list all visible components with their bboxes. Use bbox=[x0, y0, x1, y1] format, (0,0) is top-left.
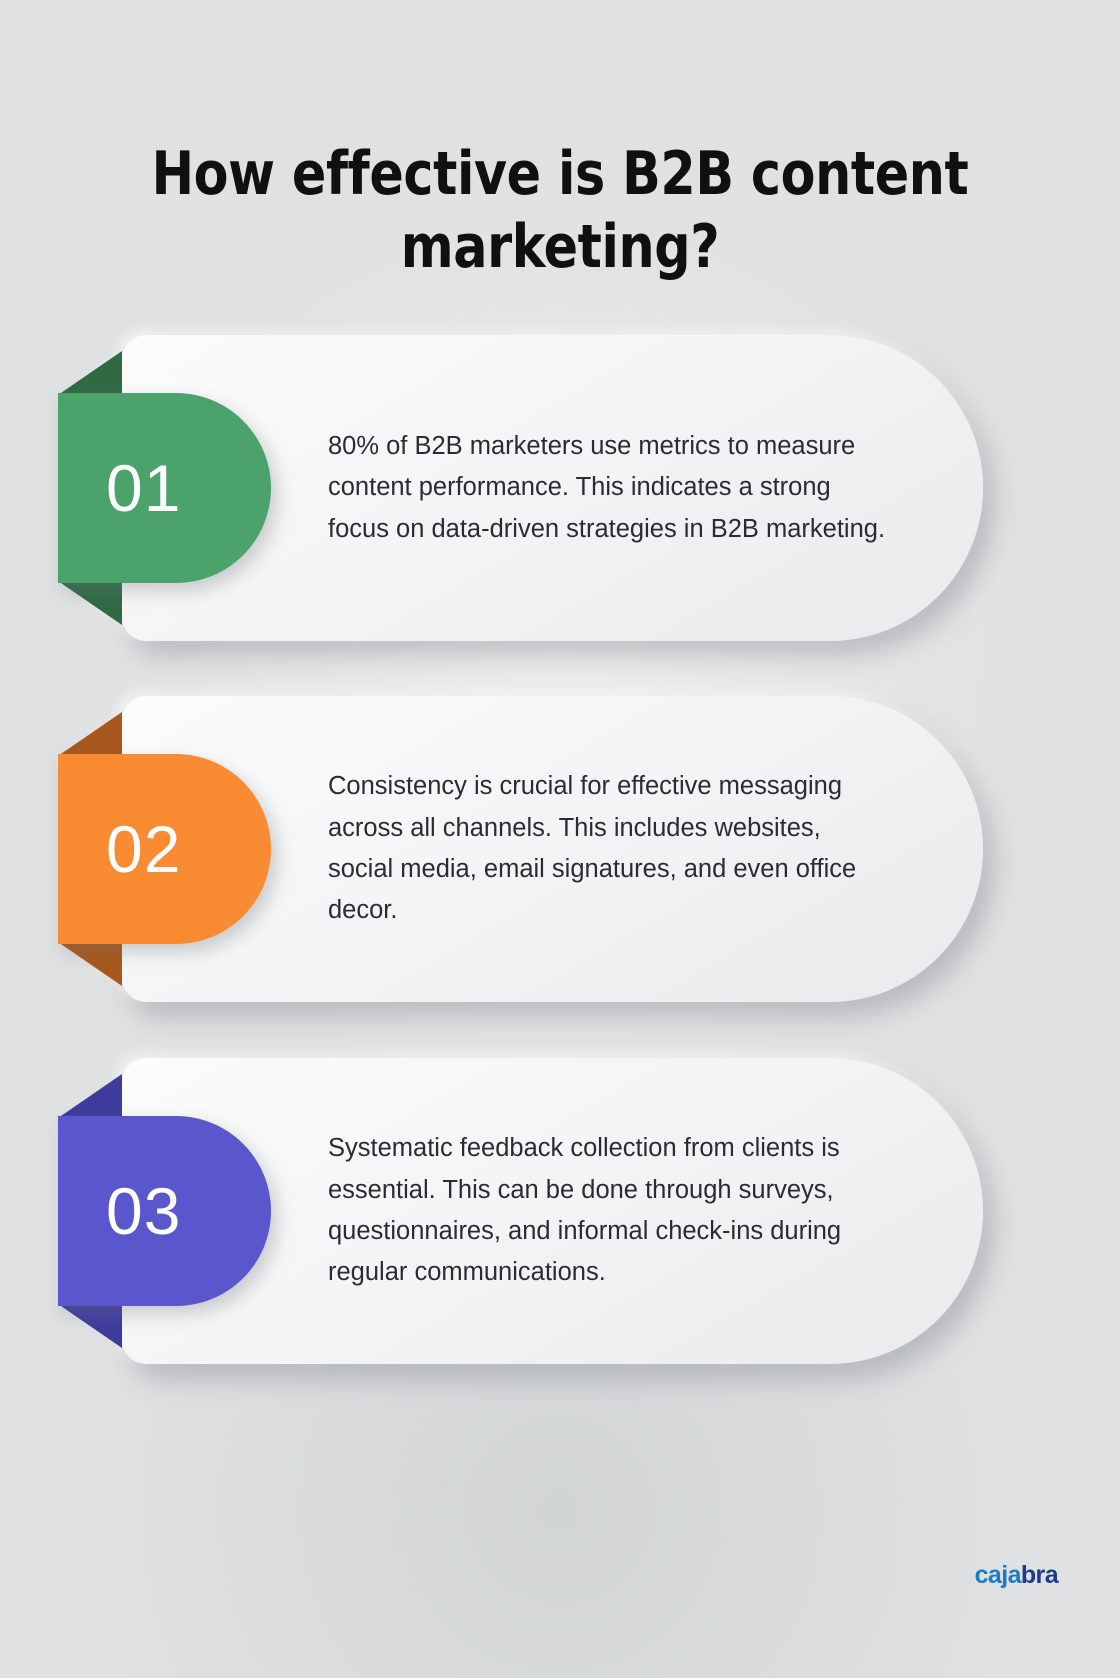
ribbon-fold-bottom-icon bbox=[58, 942, 122, 986]
fact-text-02: Consistency is crucial for effective mes… bbox=[328, 766, 888, 931]
ribbon-body-01: 01 bbox=[58, 393, 271, 583]
fact-text-wrap-03: Systematic feedback collection from clie… bbox=[328, 1058, 888, 1364]
brand-logo: cajabra bbox=[975, 1561, 1058, 1590]
ribbon-fold-top-icon bbox=[58, 1074, 122, 1118]
fact-row-03: 03 Systematic feedback collection from c… bbox=[0, 1058, 1120, 1404]
fact-text-01: 80% of B2B marketers use metrics to meas… bbox=[328, 426, 888, 550]
number-ribbon-02: 02 bbox=[58, 754, 271, 944]
ribbon-fold-top-icon bbox=[58, 351, 122, 395]
page-title: How effective is B2B content marketing? bbox=[123, 138, 997, 284]
fact-text-wrap-02: Consistency is crucial for effective mes… bbox=[328, 696, 888, 1002]
ribbon-fold-top-icon bbox=[58, 712, 122, 756]
fact-row-01: 01 80% of B2B marketers use metrics to m… bbox=[0, 335, 1120, 681]
ribbon-number-label-03: 03 bbox=[58, 1178, 181, 1244]
number-ribbon-03: 03 bbox=[58, 1116, 271, 1306]
fact-text-wrap-01: 80% of B2B marketers use metrics to meas… bbox=[328, 335, 888, 641]
fact-row-02: 02 Consistency is crucial for effective … bbox=[0, 696, 1120, 1042]
brand-logo-part-one: caja bbox=[975, 1561, 1021, 1589]
ribbon-fold-bottom-icon bbox=[58, 581, 122, 625]
ribbon-number-label-01: 01 bbox=[58, 455, 181, 521]
ribbon-number-label-02: 02 bbox=[58, 816, 181, 882]
number-ribbon-01: 01 bbox=[58, 393, 271, 583]
fact-text-03: Systematic feedback collection from clie… bbox=[328, 1128, 888, 1293]
ribbon-body-03: 03 bbox=[58, 1116, 271, 1306]
ribbon-body-02: 02 bbox=[58, 754, 271, 944]
brand-logo-part-two: bra bbox=[1021, 1561, 1058, 1589]
ribbon-fold-bottom-icon bbox=[58, 1304, 122, 1348]
